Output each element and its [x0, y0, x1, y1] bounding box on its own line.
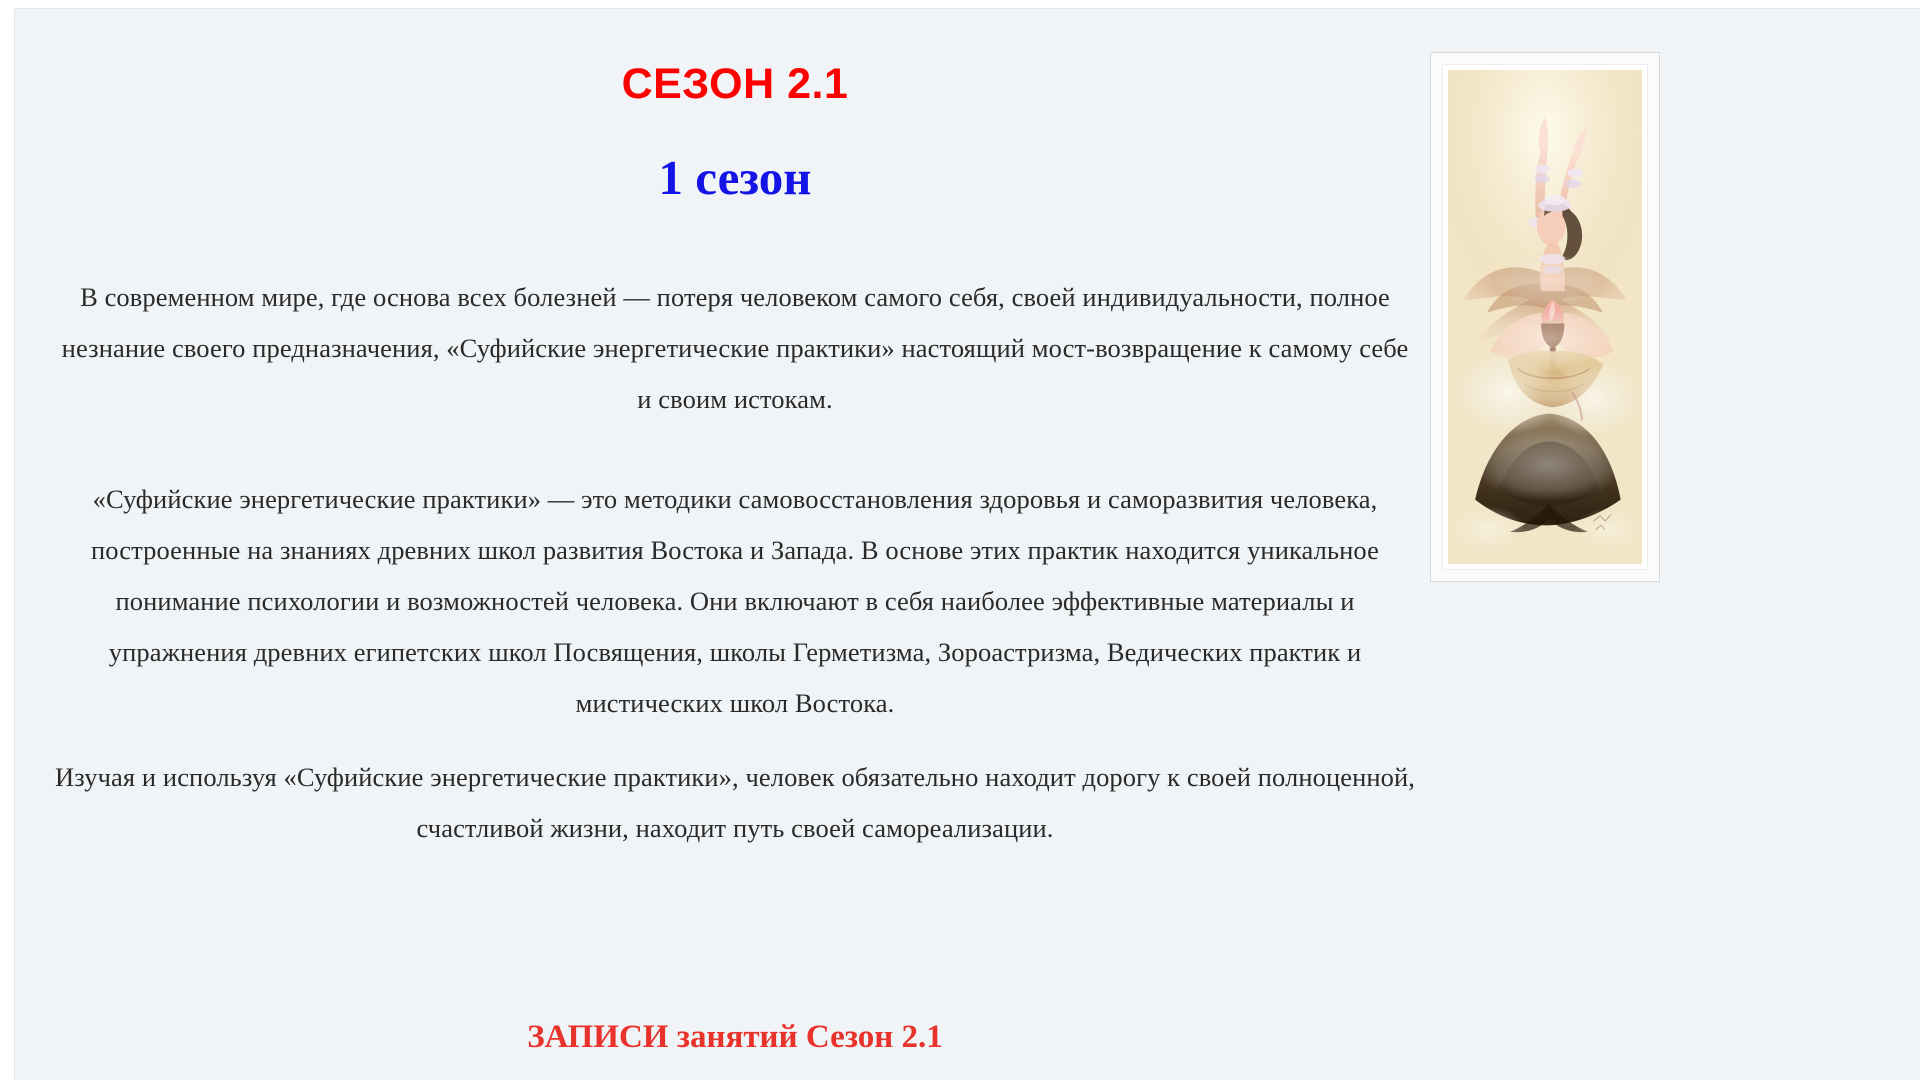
artwork-canvas [1448, 70, 1642, 564]
meditating-woman-illustration [1448, 70, 1642, 564]
recordings-heading: ЗАПИСИ занятий Сезон 2.1 [55, 1019, 1415, 1055]
content-column: СЕЗОН 2.1 1 сезон В современном мире, гд… [55, 9, 1415, 1080]
artwork-frame [1430, 52, 1660, 582]
page-title-season: СЕЗОН 2.1 [55, 61, 1415, 108]
subtitle-season-one: 1 сезон [55, 151, 1415, 205]
page-sheet: СЕЗОН 2.1 1 сезон В современном мире, гд… [14, 8, 1920, 1080]
page-root: СЕЗОН 2.1 1 сезон В современном мире, гд… [0, 0, 1920, 1080]
artwork-mat [1442, 64, 1648, 570]
conclusion-paragraph: Изучая и используя «Суфийские энергетиче… [55, 752, 1415, 854]
description-paragraph: «Суфийские энергетические практики» — эт… [55, 474, 1415, 729]
intro-paragraph: В современном мире, где основа всех боле… [55, 272, 1415, 425]
